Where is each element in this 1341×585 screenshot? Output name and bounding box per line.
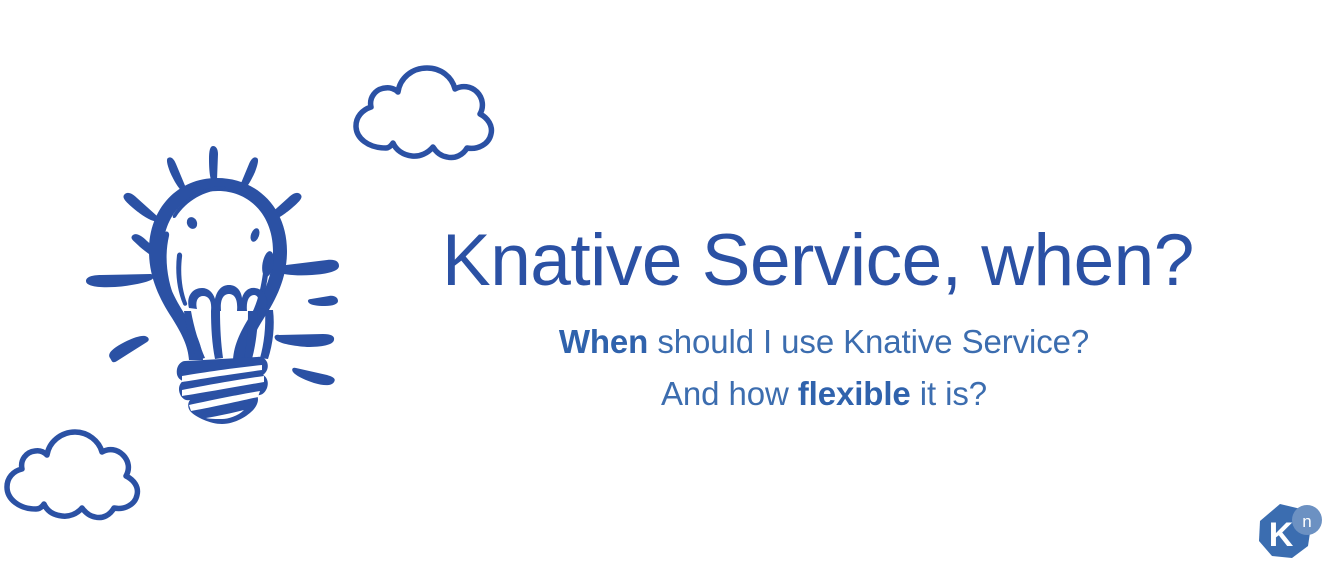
subtitle-line-2-bold: flexible — [798, 375, 911, 412]
lightbulb-rays-group — [86, 146, 339, 385]
subtitle-line-2: And how flexible it is? — [442, 368, 1206, 419]
slide-canvas: Knative Service, when? When should I use… — [0, 0, 1341, 585]
page-title: Knative Service, when? — [442, 224, 1206, 298]
text-block: Knative Service, when? When should I use… — [442, 224, 1206, 419]
lightbulb-icon — [72, 118, 362, 438]
subtitle-line-1-rest: should I use Knative Service? — [648, 323, 1089, 360]
subtitle: When should I use Knative Service? And h… — [442, 298, 1206, 418]
subtitle-line-1: When should I use Knative Service? — [442, 316, 1206, 367]
subtitle-line-1-bold: When — [559, 323, 648, 360]
cloud-icon — [0, 421, 148, 521]
lightbulb-glass-group — [149, 178, 287, 360]
lightbulb-base-stripes — [182, 365, 264, 419]
logo-letter-n: n — [1302, 512, 1311, 531]
cloud-icon — [344, 56, 504, 162]
logo-letter-k: K — [1269, 516, 1294, 554]
knative-logo-icon: K n — [1249, 501, 1325, 571]
lightbulb-base-group — [177, 357, 268, 424]
subtitle-line-2-prefix: And how — [661, 375, 798, 412]
subtitle-line-2-suffix: it is? — [911, 375, 987, 412]
lightbulb-filament-group — [184, 285, 274, 360]
